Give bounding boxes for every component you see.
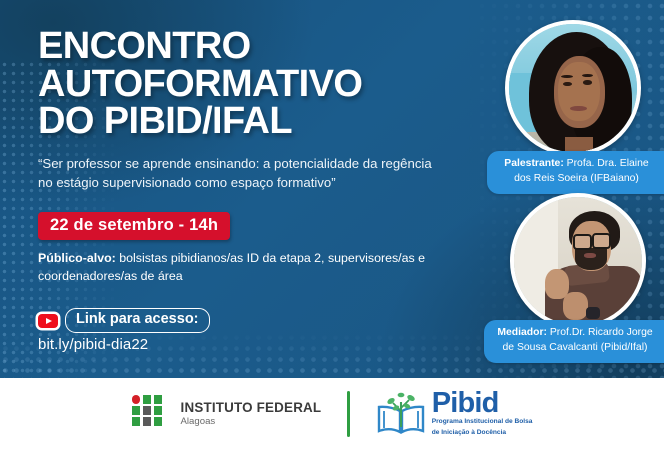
footer-divider <box>347 391 349 437</box>
instituto-federal-name: INSTITUTO FEDERAL <box>181 401 322 415</box>
pibid-tagline-line-1: Programa Institucional de Bolsa <box>432 418 533 426</box>
page-title: ENCONTRO AUTOFORMATIVO DO PIBID/IFAL <box>38 28 458 141</box>
access-link-url[interactable]: bit.ly/pibid-dia22 <box>38 336 458 353</box>
audience-label: Público-alvo: <box>38 251 116 265</box>
access-link-row: Link para acesso: <box>38 308 458 333</box>
pibid-wordmark: Pibid Programa Institucional de Bolsa de… <box>432 391 533 437</box>
footer-logos: INSTITUTO FEDERAL Alagoas Pibid <box>0 378 664 450</box>
pibid-name: Pibid <box>432 391 533 416</box>
poster-content-left: ENCONTRO AUTOFORMATIVO DO PIBID/IFAL “Se… <box>38 28 458 353</box>
instituto-federal-wordmark: INSTITUTO FEDERAL Alagoas <box>181 401 322 428</box>
link-label: Link para acesso: <box>65 308 210 333</box>
event-poster: ENCONTRO AUTOFORMATIVO DO PIBID/IFAL “Se… <box>0 0 664 450</box>
instituto-federal-logo: INSTITUTO FEDERAL Alagoas <box>132 395 322 433</box>
title-line-1: ENCONTRO <box>38 28 458 66</box>
pibid-logo: Pibid Programa Institucional de Bolsa de… <box>376 391 533 437</box>
instituto-federal-state: Alagoas <box>181 417 322 427</box>
mediator-caption: Mediador: Prof.Dr. Ricardo Jorge de Sous… <box>484 320 664 363</box>
pibid-book-tree-icon <box>376 391 426 437</box>
mediator-role: Mediador: <box>497 327 547 338</box>
instituto-federal-mark-icon <box>132 395 172 433</box>
speaker-caption: Palestrante: Profa. Dra. Elaine dos Reis… <box>487 151 664 194</box>
speaker-role: Palestrante: <box>504 158 563 169</box>
event-quote: “Ser professor se aprende ensinando: a p… <box>38 155 450 192</box>
mediator-photo-image <box>514 197 642 325</box>
pibid-tagline-line-2: de Iniciação à Docência <box>432 429 533 437</box>
title-line-2: AUTOFORMATIVO <box>38 66 458 104</box>
speaker-photo-image <box>509 24 637 152</box>
mediator-photo <box>510 193 646 329</box>
youtube-icon <box>38 314 58 328</box>
title-line-3: DO PIBID/IFAL <box>38 103 458 141</box>
date-badge: 22 de setembro - 14h <box>38 212 230 240</box>
audience-text: Público-alvo: bolsistas pibidianos/as ID… <box>38 250 438 286</box>
speaker-photo <box>505 20 641 156</box>
